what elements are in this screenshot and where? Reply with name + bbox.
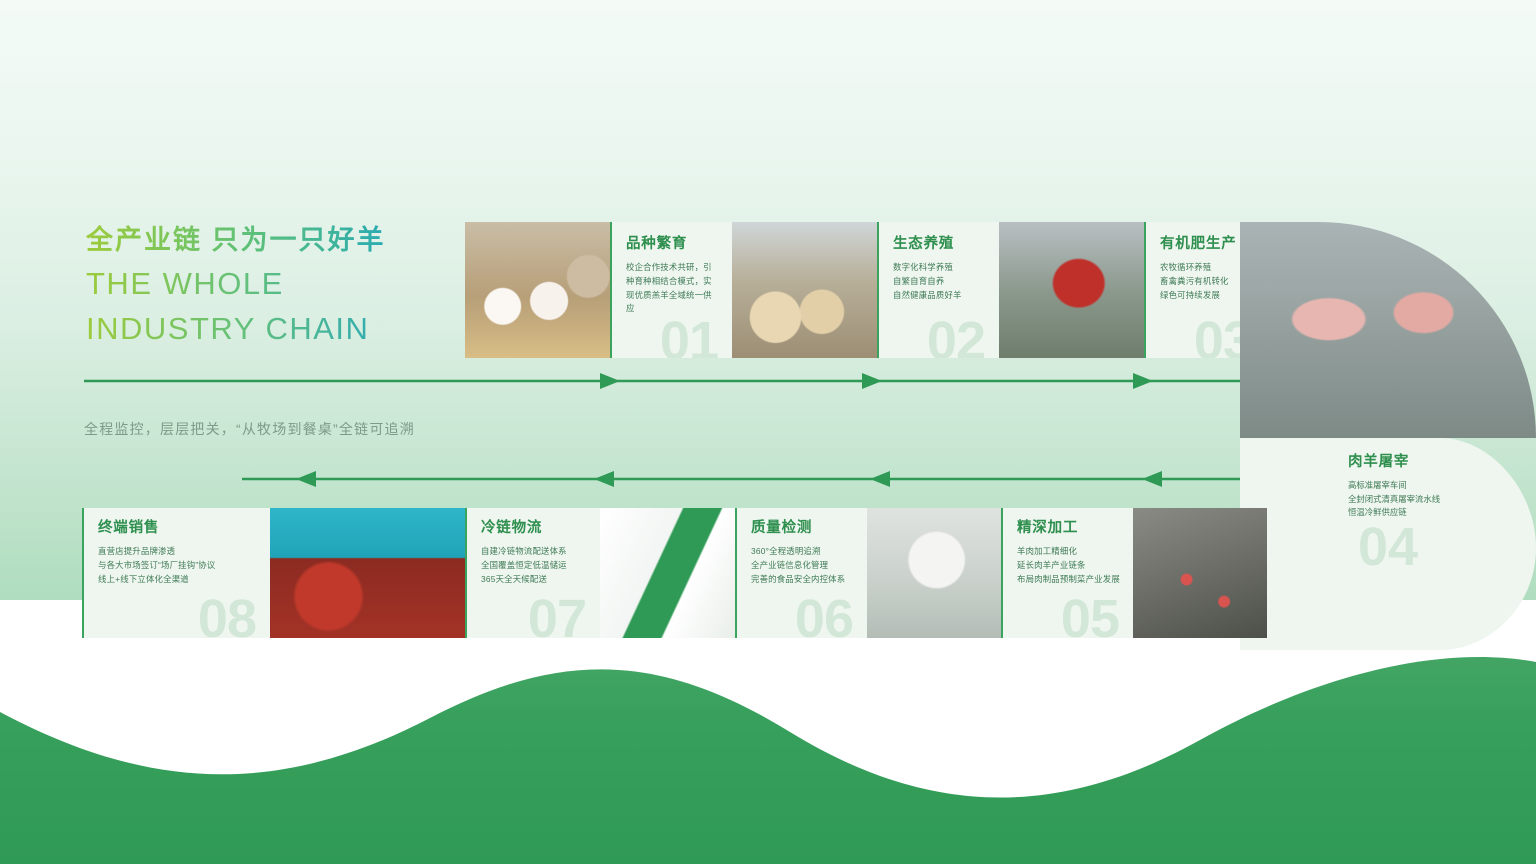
page-title-en-line2: INDUSTRY CHAIN (86, 309, 486, 349)
card-06-quality-inspection[interactable]: 质量检测 360°全程透明追溯全产业链信息化管理完善的食品安全内控体系 06 (735, 508, 867, 638)
card-07-desc: 自建冷链物流配送体系全国覆盖恒定低温储运365天全天候配送 (481, 545, 588, 586)
card-07-cold-chain-logistics[interactable]: 冷链物流 自建冷链物流配送体系全国覆盖恒定低温储运365天全天候配送 07 (465, 508, 600, 638)
card-02-desc: 数字化科学养殖自繁自育自养自然健康品质好羊 (893, 261, 987, 302)
card-06-number: 06 (795, 592, 853, 638)
card-05-desc: 羊肉加工精细化延长肉羊产业链条布局肉制品预制菜产业发展 (1017, 545, 1121, 586)
card-08-number: 08 (198, 592, 256, 638)
card-photo-fertilizer-equipment (999, 222, 1144, 358)
card-01-title: 品种繁育 (626, 236, 720, 253)
card-04-number: 04 (1358, 520, 1418, 574)
card-photo-sheep-pen (732, 222, 877, 358)
bottom-process-row: 终端销售 直营店提升品牌渗透与各大市场签订“场厂挂钩”协议线上+线下立体化全渠道… (82, 508, 1267, 638)
card-05-number: 05 (1061, 592, 1119, 638)
card-01-desc: 校企合作技术共研，引种育种相结合模式，实现优质羔羊全域统一供应 (626, 261, 720, 315)
card-photo-processed-meat (1133, 508, 1267, 638)
card-04-title: 肉羊屠宰 (1348, 450, 1528, 471)
card-08-title: 终端销售 (98, 520, 258, 537)
card-photo-retail-storefront (270, 508, 465, 638)
card-06-title: 质量检测 (751, 520, 855, 537)
card-08-desc: 直营店提升品牌渗透与各大市场签订“场厂挂钩”协议线上+线下立体化全渠道 (98, 545, 258, 586)
card-photo-lambs-in-barn (465, 222, 610, 358)
card-photo-lab-inspection (867, 508, 1001, 638)
poster-stage: 全产业链 只为一只好羊 THE WHOLE INDUSTRY CHAIN 全程监… (0, 0, 1536, 864)
card-photo-refrigerated-truck (600, 508, 735, 638)
card-05-deep-processing[interactable]: 精深加工 羊肉加工精细化延长肉羊产业链条布局肉制品预制菜产业发展 05 (1001, 508, 1133, 638)
page-subtitle: 全程监控，层层把关，“从牧场到餐桌”全链可追溯 (84, 419, 604, 439)
header-block: 全产业链 只为一只好羊 THE WHOLE INDUSTRY CHAIN (86, 224, 486, 349)
card-02-number: 02 (927, 314, 985, 358)
card-07-number: 07 (528, 592, 586, 638)
card-05-title: 精深加工 (1017, 520, 1121, 537)
card-04-desc: 高标准屠宰车间全封闭式清真屠宰流水线恒温冷鲜供应链 (1348, 479, 1528, 520)
card-04-text: 肉羊屠宰 高标准屠宰车间全封闭式清真屠宰流水线恒温冷鲜供应链 (1348, 450, 1528, 520)
card-06-desc: 360°全程透明追溯全产业链信息化管理完善的食品安全内控体系 (751, 545, 855, 586)
card-01-number: 01 (660, 314, 718, 358)
card-02-title: 生态养殖 (893, 236, 987, 253)
page-title-cn: 全产业链 只为一只好羊 (86, 224, 486, 258)
card-07-title: 冷链物流 (481, 520, 588, 537)
card-photo-slaughter-line (1240, 222, 1536, 438)
card-08-terminal-sales[interactable]: 终端销售 直营店提升品牌渗透与各大市场签订“场厂挂钩”协议线上+线下立体化全渠道… (82, 508, 270, 638)
top-process-row: 品种繁育 校企合作技术共研，引种育种相结合模式，实现优质羔羊全域统一供应 01 … (465, 222, 1266, 358)
card-02-ecological-farming[interactable]: 生态养殖 数字化科学养殖自繁自育自养自然健康品质好羊 02 (877, 222, 999, 358)
page-title-en-line1: THE WHOLE (86, 264, 486, 304)
card-01-breeding[interactable]: 品种繁育 校企合作技术共研，引种育种相结合模式，实现优质羔羊全域统一供应 01 (610, 222, 732, 358)
